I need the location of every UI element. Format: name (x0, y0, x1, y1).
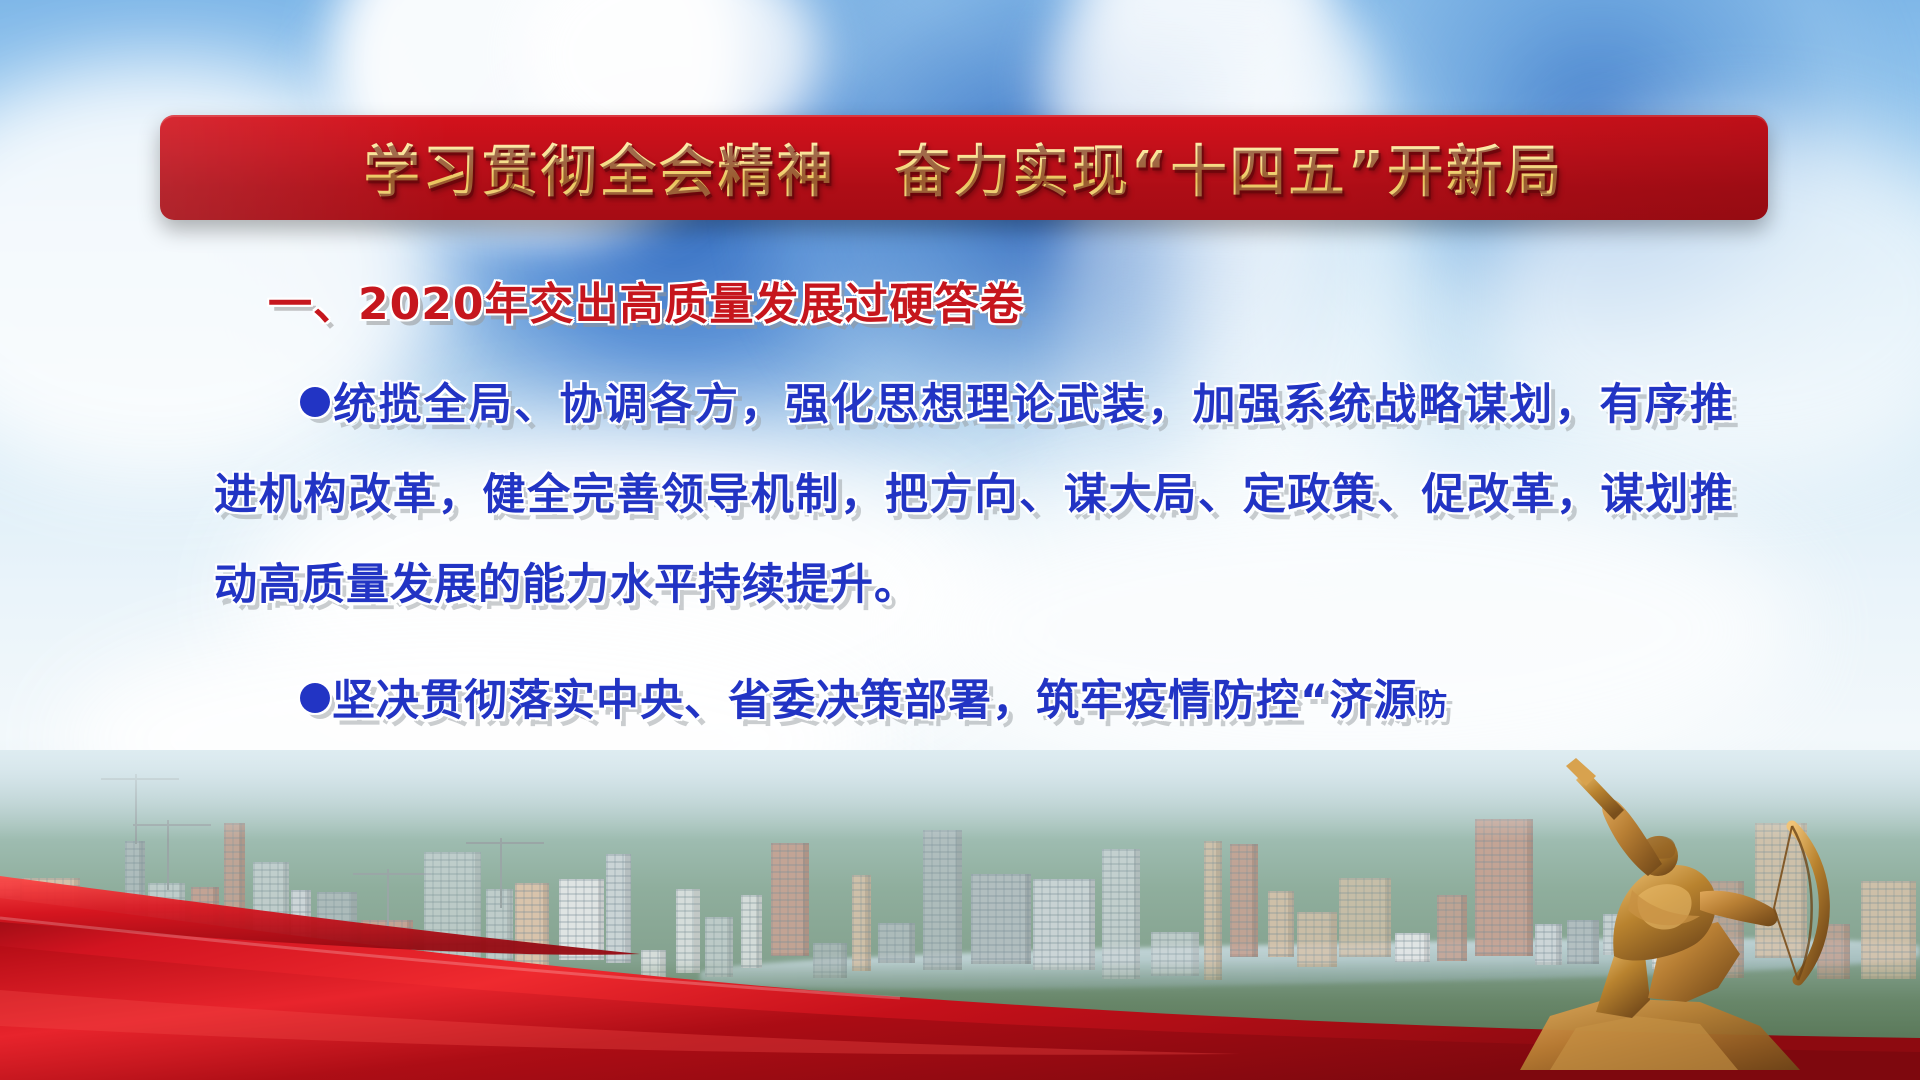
bullet-dot-icon (300, 683, 330, 713)
paragraph-text: 统揽全局、协调各方，强化思想理论武装，加强系统战略谋划，有序推进机构改革，健全完… (214, 380, 1734, 610)
slide-canvas: 学习贯彻全会精神 奋力实现“十四五”开新局 一、2020年交出高质量发展过硬答卷… (0, 0, 1920, 1080)
title-banner: 学习贯彻全会精神 奋力实现“十四五”开新局 (160, 115, 1768, 220)
banner-title: 学习贯彻全会精神 奋力实现“十四五”开新局 (364, 127, 1565, 208)
bullet-paragraph: 统揽全局、协调各方，强化思想理论武装，加强系统战略谋划，有序推进机构改革，健全完… (214, 360, 1734, 630)
body-text-block: 统揽全局、协调各方，强化思想理论武装，加强系统战略谋划，有序推进机构改革，健全完… (214, 360, 1734, 757)
bronze-archer-statue (1400, 740, 1860, 1070)
section-heading: 一、2020年交出高质量发展过硬答卷 (268, 268, 1024, 332)
paragraph-text: 坚决贯彻落实中央、省委决策部署，筑牢疫情防控“济源 (332, 676, 1417, 726)
bullet-dot-icon (300, 387, 330, 417)
bullet-paragraph: 坚决贯彻落实中央、省委决策部署，筑牢疫情防控“济源防 (214, 656, 1734, 751)
paragraph-tail: 防 (1417, 688, 1447, 723)
